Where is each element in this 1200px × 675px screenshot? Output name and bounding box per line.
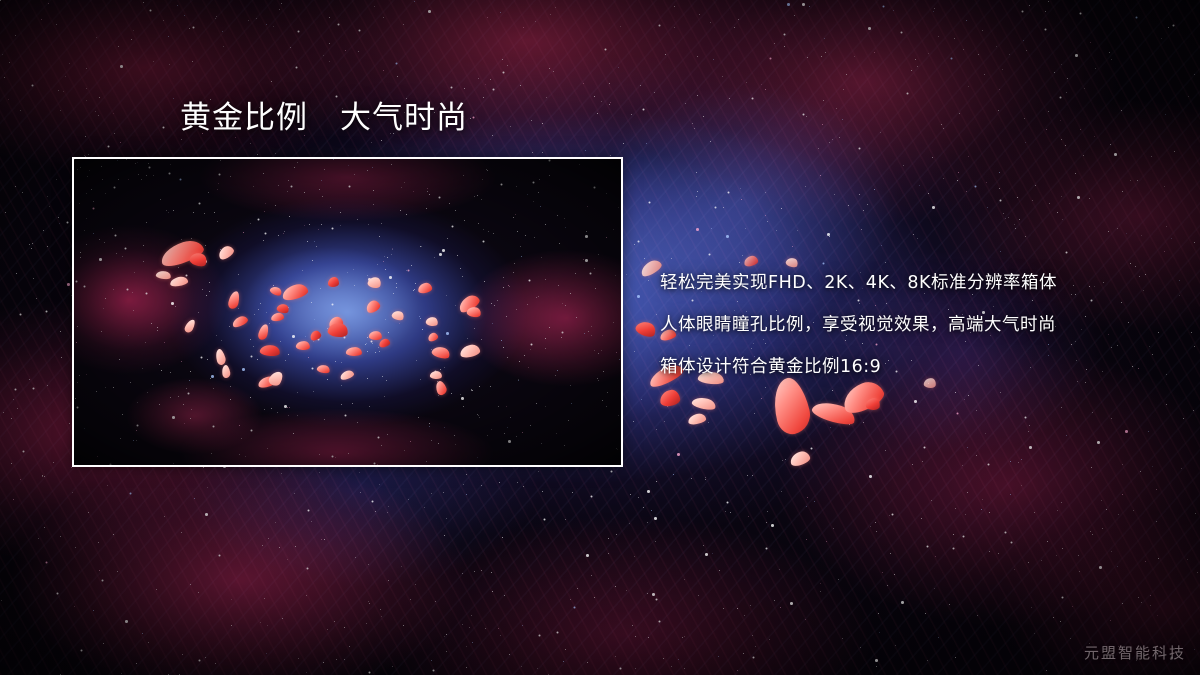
body-line-2: 人体眼睛瞳孔比例，享受视觉效果，高端大气时尚 <box>660 304 1180 346</box>
body-text-block: 轻松完美实现FHD、2K、4K、8K标准分辨率箱体 人体眼睛瞳孔比例，享受视觉效… <box>660 262 1180 388</box>
slide-canvas: 黄金比例 大气时尚 轻松完美实现FHD、2K、4K、8K标准分辨率箱体 人体眼睛… <box>0 0 1200 675</box>
preview-image <box>74 159 621 465</box>
body-line-3: 箱体设计符合黄金比例16:9 <box>660 346 1180 388</box>
watermark-label: 元盟智能科技 <box>1084 642 1186 663</box>
page-title: 黄金比例 大气时尚 <box>180 98 468 138</box>
preview-vignette <box>74 159 621 465</box>
body-line-1: 轻松完美实现FHD、2K、4K、8K标准分辨率箱体 <box>660 262 1180 304</box>
preview-image-frame[interactable] <box>72 157 623 467</box>
